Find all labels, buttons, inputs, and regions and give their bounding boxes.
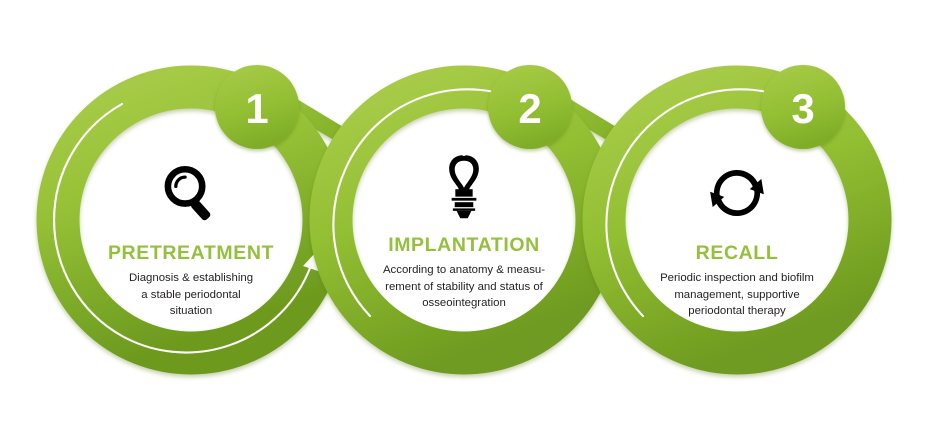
- desc-line: Periodic inspection and biofilm: [632, 270, 842, 287]
- step-2-badge-number: 2: [518, 85, 541, 132]
- step-2-title: IMPLANTATION: [349, 234, 579, 257]
- desc-line: According to anatomy & measu-: [357, 262, 571, 279]
- desc-line: situation: [102, 303, 280, 320]
- desc-line: periodontal therapy: [632, 303, 842, 320]
- cycle-refresh-icon: [622, 150, 852, 236]
- step-3-content: RECALL Periodic inspection and biofilm m…: [622, 150, 852, 320]
- desc-line: rement of stability and status of: [357, 279, 571, 296]
- step-1-badge-number: 1: [245, 85, 268, 132]
- step-3-badge-number: 3: [791, 85, 814, 132]
- desc-line: management, supportive: [632, 287, 842, 304]
- step-1-description: Diagnosis & establishing a stable period…: [76, 270, 306, 320]
- process-diagram: 1 2 3 PRETREATMENT: [0, 0, 940, 425]
- step-2-content: IMPLANTATION According to anatomy & meas…: [349, 142, 579, 312]
- desc-line: a stable periodontal: [102, 287, 280, 304]
- dental-implant-icon: [349, 142, 579, 228]
- step-3-title: RECALL: [622, 242, 852, 265]
- step-3-description: Periodic inspection and biofilm manageme…: [622, 270, 852, 320]
- step-1-title: PRETREATMENT: [76, 242, 306, 265]
- step-1-content: PRETREATMENT Diagnosis & establishing a …: [76, 150, 306, 320]
- desc-line: Diagnosis & establishing: [102, 270, 280, 287]
- step-2-description: According to anatomy & measu- rement of …: [349, 262, 579, 312]
- magnifier-icon: [76, 150, 306, 236]
- desc-line: osseointegration: [357, 295, 571, 312]
